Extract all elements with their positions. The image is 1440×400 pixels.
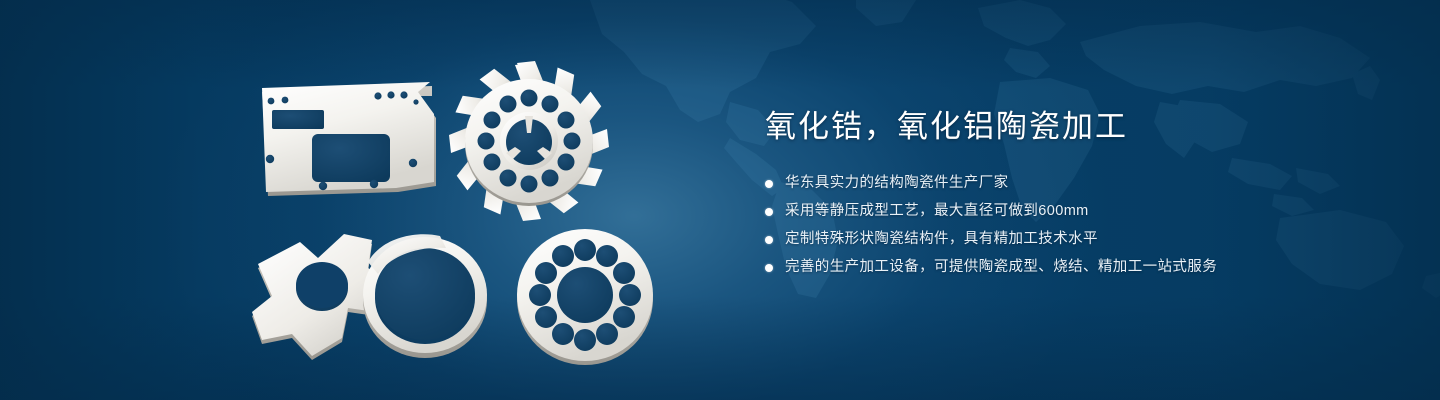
feature-text: 定制特殊形状陶瓷结构件，具有精加工技术水平 — [785, 229, 1098, 250]
feature-item: 完善的生产加工设备，可提供陶瓷成型、烧结、精加工一站式服务 — [765, 257, 1405, 278]
feature-text: 华东具实力的结构陶瓷件生产厂家 — [785, 173, 1009, 194]
feature-item: 采用等静压成型工艺，最大直径可做到600mm — [765, 201, 1405, 222]
bullet-dot-icon — [765, 208, 773, 216]
promo-banner: 氧化锆，氧化铝陶瓷加工 华东具实力的结构陶瓷件生产厂家 采用等静压成型工艺，最大… — [0, 0, 1440, 400]
banner-copy: 氧化锆，氧化铝陶瓷加工 华东具实力的结构陶瓷件生产厂家 采用等静压成型工艺，最大… — [765, 108, 1405, 285]
product-ceramic-impeller — [449, 61, 609, 221]
feature-text: 完善的生产加工设备，可提供陶瓷成型、烧结、精加工一站式服务 — [785, 257, 1217, 278]
feature-item: 定制特殊形状陶瓷结构件，具有精加工技术水平 — [765, 229, 1405, 250]
bullet-dot-icon — [765, 264, 773, 272]
banner-feature-list: 华东具实力的结构陶瓷件生产厂家 采用等静压成型工艺，最大直径可做到600mm 定… — [765, 173, 1405, 278]
product-ceramic-perforated-disc — [517, 229, 653, 365]
bullet-dot-icon — [765, 180, 773, 188]
product-showcase — [0, 0, 720, 400]
feature-text: 采用等静压成型工艺，最大直径可做到600mm — [785, 201, 1089, 222]
product-ceramic-ring — [363, 234, 487, 358]
banner-headline: 氧化锆，氧化铝陶瓷加工 — [765, 108, 1405, 145]
feature-item: 华东具实力的结构陶瓷件生产厂家 — [765, 173, 1405, 194]
bullet-dot-icon — [765, 236, 773, 244]
product-ceramic-plate — [262, 82, 436, 196]
